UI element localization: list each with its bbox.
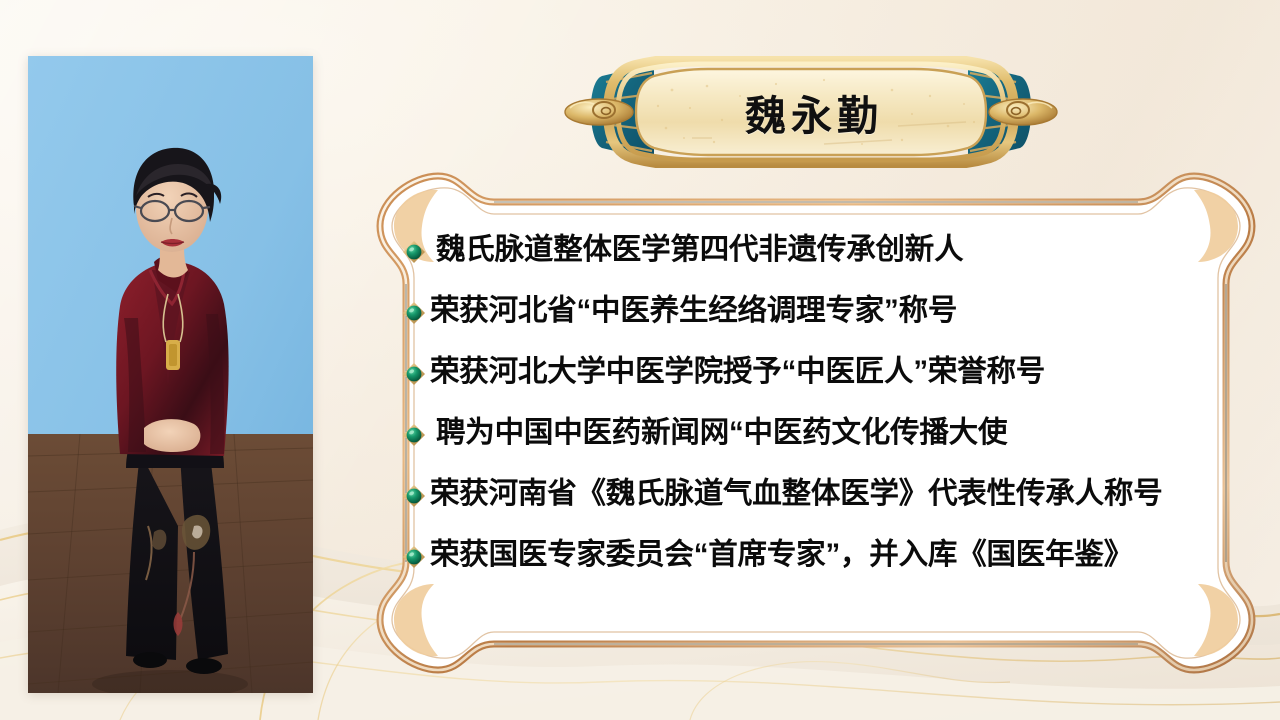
list-item-label: 聘为中国中医药新闻网“中医药文化传播大使 — [428, 417, 1007, 449]
list-item: 荣获河北省“中医养生经络调理专家”称号 — [402, 281, 1240, 342]
title-banner: 魏永勤 — [562, 56, 1060, 168]
list-item: 魏氏脉道整体医学第四代非遗传承创新人 — [402, 220, 1240, 281]
green-gem-bullet-icon — [402, 362, 426, 386]
page-title: 魏永勤 — [562, 56, 1060, 168]
list-item: 聘为中国中医药新闻网“中医药文化传播大使 — [402, 403, 1240, 464]
slide-canvas: 魏永勤 — [0, 0, 1280, 720]
list-item-label: 荣获河北大学中医学院授予“中医匠人”荣誉称号 — [430, 356, 1045, 388]
green-gem-bullet-icon — [402, 484, 426, 508]
green-gem-bullet-icon — [402, 301, 426, 325]
list-item-label: 魏氏脉道整体医学第四代非遗传承创新人 — [428, 234, 963, 266]
green-gem-bullet-icon — [402, 240, 426, 264]
list-item-label: 荣获河南省《魏氏脉道气血整体医学》代表性传承人称号 — [430, 478, 1163, 510]
list-item: 荣获河南省《魏氏脉道气血整体医学》代表性传承人称号 — [402, 464, 1240, 525]
portrait-photo — [28, 56, 313, 693]
list-item-label: 荣获河北省“中医养生经络调理专家”称号 — [430, 295, 957, 327]
green-gem-bullet-icon — [402, 545, 426, 569]
list-item: 荣获河北大学中医学院授予“中医匠人”荣誉称号 — [402, 342, 1240, 403]
credentials-card: 魏氏脉道整体医学第四代非遗传承创新人 荣获河北省“中医养生经络调理专家”称号 — [372, 168, 1260, 678]
green-gem-bullet-icon — [402, 423, 426, 447]
list-item-label: 荣获国医专家委员会“首席专家”，并入库《国医年鉴》 — [430, 539, 1133, 571]
credentials-list: 魏氏脉道整体医学第四代非遗传承创新人 荣获河北省“中医养生经络调理专家”称号 — [402, 220, 1240, 644]
list-item: 荣获国医专家委员会“首席专家”，并入库《国医年鉴》 — [402, 525, 1240, 586]
